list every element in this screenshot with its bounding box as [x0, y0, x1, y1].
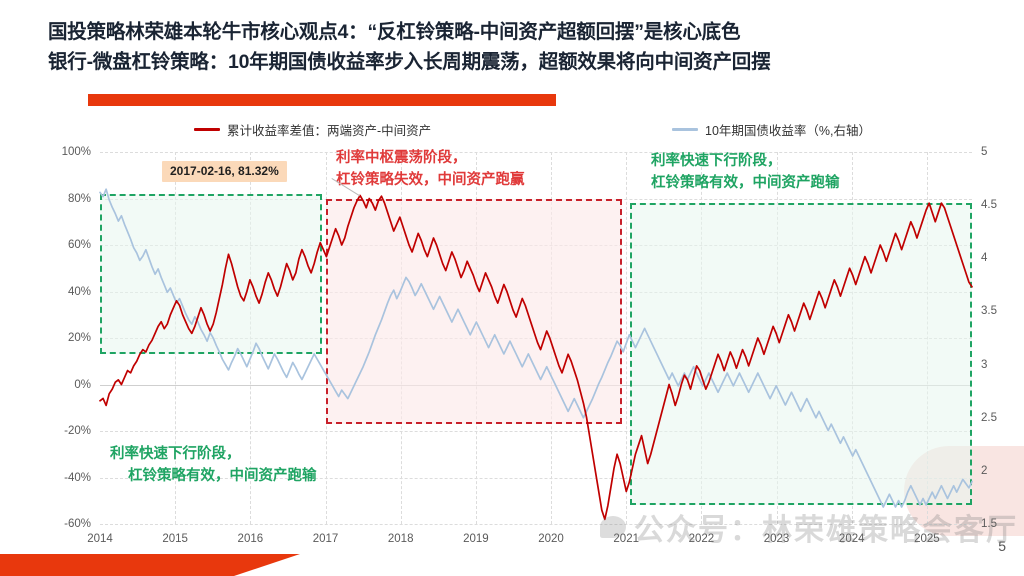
annotation-phase-2: 利率中枢震荡阶段， 杠铃策略失效，中间资产跑赢 [336, 148, 525, 192]
y-axis-left-tick-label: 100% [62, 146, 91, 158]
wechat-bubble-icon [600, 516, 626, 538]
y-axis-left-tick-label: 80% [68, 193, 91, 205]
annotation-phase-3-line-1: 利率快速下行阶段， [651, 151, 840, 173]
x-axis-tick-label: 2019 [463, 533, 489, 545]
watermark: 公众号：林荣雄策略会客厅 [600, 505, 1018, 549]
annotation-phase-3: 利率快速下行阶段， 杠铃策略有效，中间资产跑输 [651, 151, 840, 195]
chart-plot-area: 100%80%60%40%20%0%-20%-40%-60%54.543.532… [100, 152, 972, 524]
annotation-phase-3-line-2: 杠铃策略有效，中间资产跑输 [651, 173, 840, 195]
data-label-peak: 2017-02-16, 81.32% [162, 161, 287, 182]
x-axis-tick-label: 2016 [238, 533, 264, 545]
x-axis-tick-label: 2015 [162, 533, 188, 545]
x-axis-tick-label: 2017 [313, 533, 339, 545]
y-axis-left-tick-label: -20% [64, 425, 91, 437]
chart-legend: 累计收益率差值：两端资产-中间资产 10年期国债收益率（%,右轴） [180, 120, 980, 142]
y-axis-left-tick-label: 40% [68, 286, 91, 298]
decorative-bottom-bar [0, 554, 300, 576]
y-axis-right-tick-label: 3 [981, 359, 987, 371]
annotation-phase-2-line-1: 利率中枢震荡阶段， [336, 148, 525, 170]
annotation-phase-1: 利率快速下行阶段， 杠铃策略有效，中间资产跑输 [110, 444, 317, 488]
y-axis-left-tick-label: 60% [68, 239, 91, 251]
annotation-phase-1-line-1: 利率快速下行阶段， [110, 444, 317, 466]
y-axis-left-tick-label: -60% [64, 518, 91, 530]
watermark-text: 公众号：林荣雄策略会客厅 [634, 505, 1018, 549]
x-axis-tick-label: 2018 [388, 533, 414, 545]
slide-root: 国投策略林荣雄本轮牛市核心观点4：“反杠铃策略-中间资产超额回摆”是核心底色 银… [0, 0, 1024, 576]
legend-label-yield: 10年期国债收益率（%,右轴） [705, 120, 871, 139]
legend-item-yield: 10年期国债收益率（%,右轴） [672, 120, 871, 139]
title-line-2: 银行-微盘杠铃策略：10年期国债收益率步入长周期震荡，超额效果将向中间资产回摆 [48, 48, 1014, 78]
y-axis-left-tick-label: -40% [64, 472, 91, 484]
y-axis-left-tick-label: 20% [68, 332, 91, 344]
annotation-phase-2-line-2: 杠铃策略失效，中间资产跑赢 [336, 170, 525, 192]
legend-swatch-yield [672, 128, 698, 131]
legend-item-spread: 累计收益率差值：两端资产-中间资产 [194, 120, 431, 139]
y-axis-right-tick-label: 4.5 [981, 199, 997, 211]
annotation-phase-1-line-2: 杠铃策略有效，中间资产跑输 [128, 466, 317, 488]
title-line-1: 国投策略林荣雄本轮牛市核心观点4：“反杠铃策略-中间资产超额回摆”是核心底色 [48, 18, 1014, 48]
slide-title: 国投策略林荣雄本轮牛市核心观点4：“反杠铃策略-中间资产超额回摆”是核心底色 银… [48, 18, 1014, 77]
legend-label-spread: 累计收益率差值：两端资产-中间资产 [227, 120, 431, 139]
x-axis-tick-label: 2020 [538, 533, 564, 545]
x-axis-tick-label: 2014 [87, 533, 113, 545]
y-axis-left-tick-label: 0% [74, 379, 91, 391]
y-axis-right-tick-label: 5 [981, 146, 987, 158]
legend-swatch-spread [194, 128, 220, 131]
y-axis-right-tick-label: 3.5 [981, 305, 997, 317]
y-axis-right-tick-label: 2.5 [981, 412, 997, 424]
y-axis-right-tick-label: 4 [981, 252, 987, 264]
page-number: 5 [998, 538, 1006, 554]
y-axis-right-tick-label: 2 [981, 465, 987, 477]
title-underline-bar [88, 94, 556, 106]
